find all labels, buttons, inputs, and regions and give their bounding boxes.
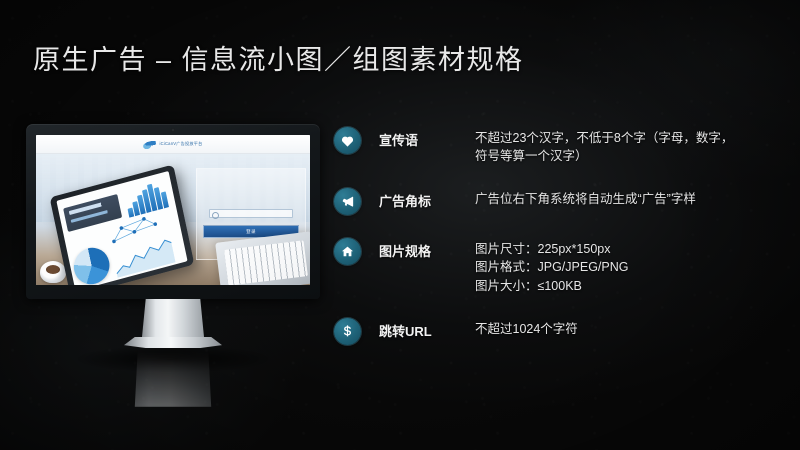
login-account-input[interactable] [209,209,293,218]
spec-row-slogan: 宣传语 不超过23个汉字，不低于8个字（字母，数字， 符号等算一个汉字） [334,126,784,165]
preview-hero-photo: 登录 立即免费注册 [36,154,310,285]
spec-value-line: 广告位右下角系统将自动生成“广告”字样 [475,190,784,208]
spec-value-line: 图片格式：JPG/JPEG/PNG [475,258,784,276]
pie-chart-graphic [71,244,113,285]
page-title: 原生广告 – 信息流小图／组图素材规格 [33,38,524,77]
monitor-stand-neck [142,299,204,337]
spec-value-line: 图片大小：≤100KB [475,277,784,295]
login-submit-label: 登录 [246,229,256,235]
home-icon [334,238,361,265]
spec-label-landing-url: 跳转URL [379,321,475,340]
spec-value-line: 符号等算一个汉字） [475,147,784,165]
spec-value-landing-url: 不超过1024个字符 [475,320,784,338]
dollar-icon [334,318,361,345]
spec-value-image-spec: 图片尺寸：225px*150px 图片格式：JPG/JPEG/PNG 图片大小：… [475,240,784,294]
monitor-stand-reflection [124,349,222,407]
spec-row-landing-url: 跳转URL 不超过1024个字符 [334,317,784,345]
spec-row-image-spec: 图片规格 图片尺寸：225px*150px 图片格式：JPG/JPEG/PNG … [334,237,784,294]
heart-icon [334,127,361,154]
brand-bird-logo-icon [143,139,157,150]
monitor-stand-base [124,337,222,348]
spec-label-ad-badge: 广告角标 [379,191,475,210]
spec-value-line: 图片尺寸：225px*150px [475,240,784,258]
coffee-cup-object [40,261,66,283]
preview-site-header: iCiCanV广告投放平台 [36,135,310,154]
spec-value-ad-badge: 广告位右下角系统将自动生成“广告”字样 [475,190,784,208]
preview-site-header-text: iCiCanV广告投放平台 [159,141,202,147]
slide-canvas: 原生广告 – 信息流小图／组图素材规格 iCiCanV广告投放平台 [0,0,800,450]
spec-value-line: 不超过1024个字符 [475,320,784,338]
spec-row-ad-badge: 广告角标 广告位右下角系统将自动生成“广告”字样 [334,187,784,215]
monitor-bezel: iCiCanV广告投放平台 [26,124,320,299]
spec-value-slogan: 不超过23个汉字，不低于8个字（字母，数字， 符号等算一个汉字） [475,129,784,165]
spec-label-slogan: 宣传语 [379,130,475,149]
webcam-icon [171,128,175,132]
megaphone-icon [334,188,361,215]
spec-label-image-spec: 图片规格 [379,241,475,260]
monitor-screen: iCiCanV广告投放平台 [36,135,310,285]
monitor-mockup: iCiCanV广告投放平台 [26,124,320,424]
spec-list: 宣传语 不超过23个汉字，不低于8个字（字母，数字， 符号等算一个汉字） 广告角… [334,126,784,345]
spec-value-line: 不超过23个汉字，不低于8个字（字母，数字， [475,129,784,147]
